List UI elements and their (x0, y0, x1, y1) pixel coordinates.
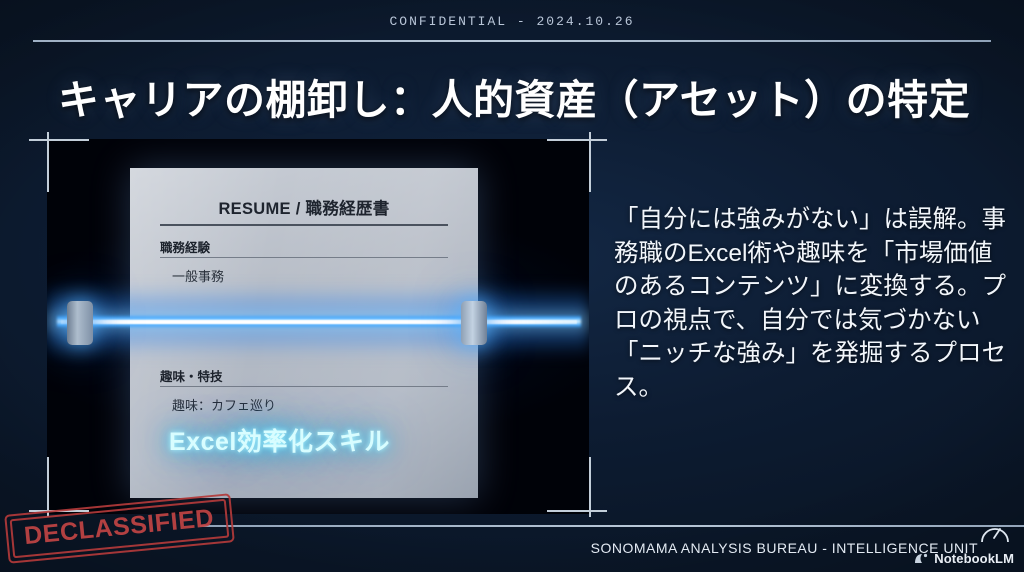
notebooklm-label: NotebookLM (934, 551, 1014, 566)
classification-banner: CONFIDENTIAL - 2024.10.26 (0, 14, 1024, 29)
notebooklm-logo-icon (914, 552, 929, 565)
slide-canvas: CONFIDENTIAL - 2024.10.26 キャリアの棚卸し：人的資産（… (0, 0, 1024, 572)
resume-item-1: 一般事務 (172, 266, 224, 285)
resume-divider-3 (160, 386, 448, 387)
crosshair-top-right (547, 132, 607, 192)
notebooklm-badge: NotebookLM (914, 551, 1014, 566)
header-divider (33, 40, 991, 42)
resume-section-heading-2: 趣味・特技 (160, 366, 223, 385)
resume-title: RESUME / 職務経歴書 (130, 195, 478, 219)
resume-divider-2 (160, 257, 448, 258)
resume-divider-1 (160, 224, 448, 226)
panel-photo: RESUME / 職務経歴書 職務経験 一般事務 趣味・特技 趣味：カフェ巡り … (47, 139, 589, 514)
crosshair-bottom-right (547, 457, 607, 517)
resume-item-2: 趣味：カフェ巡り (172, 395, 276, 414)
crosshair-top-left (29, 132, 89, 192)
body-copy: 「自分には強みがない」は誤解。事務職のExcel術や趣味を「市場価値のあるコンテ… (614, 203, 1006, 404)
gauge-icon (980, 520, 1010, 546)
declassified-stamp-label: DECLASSIFIED (23, 506, 215, 549)
highlighted-skill-1: Excel効率化スキル (169, 422, 390, 458)
image-panel: RESUME / 職務経歴書 職務経験 一般事務 趣味・特技 趣味：カフェ巡り … (47, 139, 589, 514)
page-title: キャリアの棚卸し：人的資産（アセット）の特定 (58, 66, 970, 126)
footer-divider (200, 525, 1024, 527)
resume-section-heading-1: 職務経験 (160, 237, 210, 256)
